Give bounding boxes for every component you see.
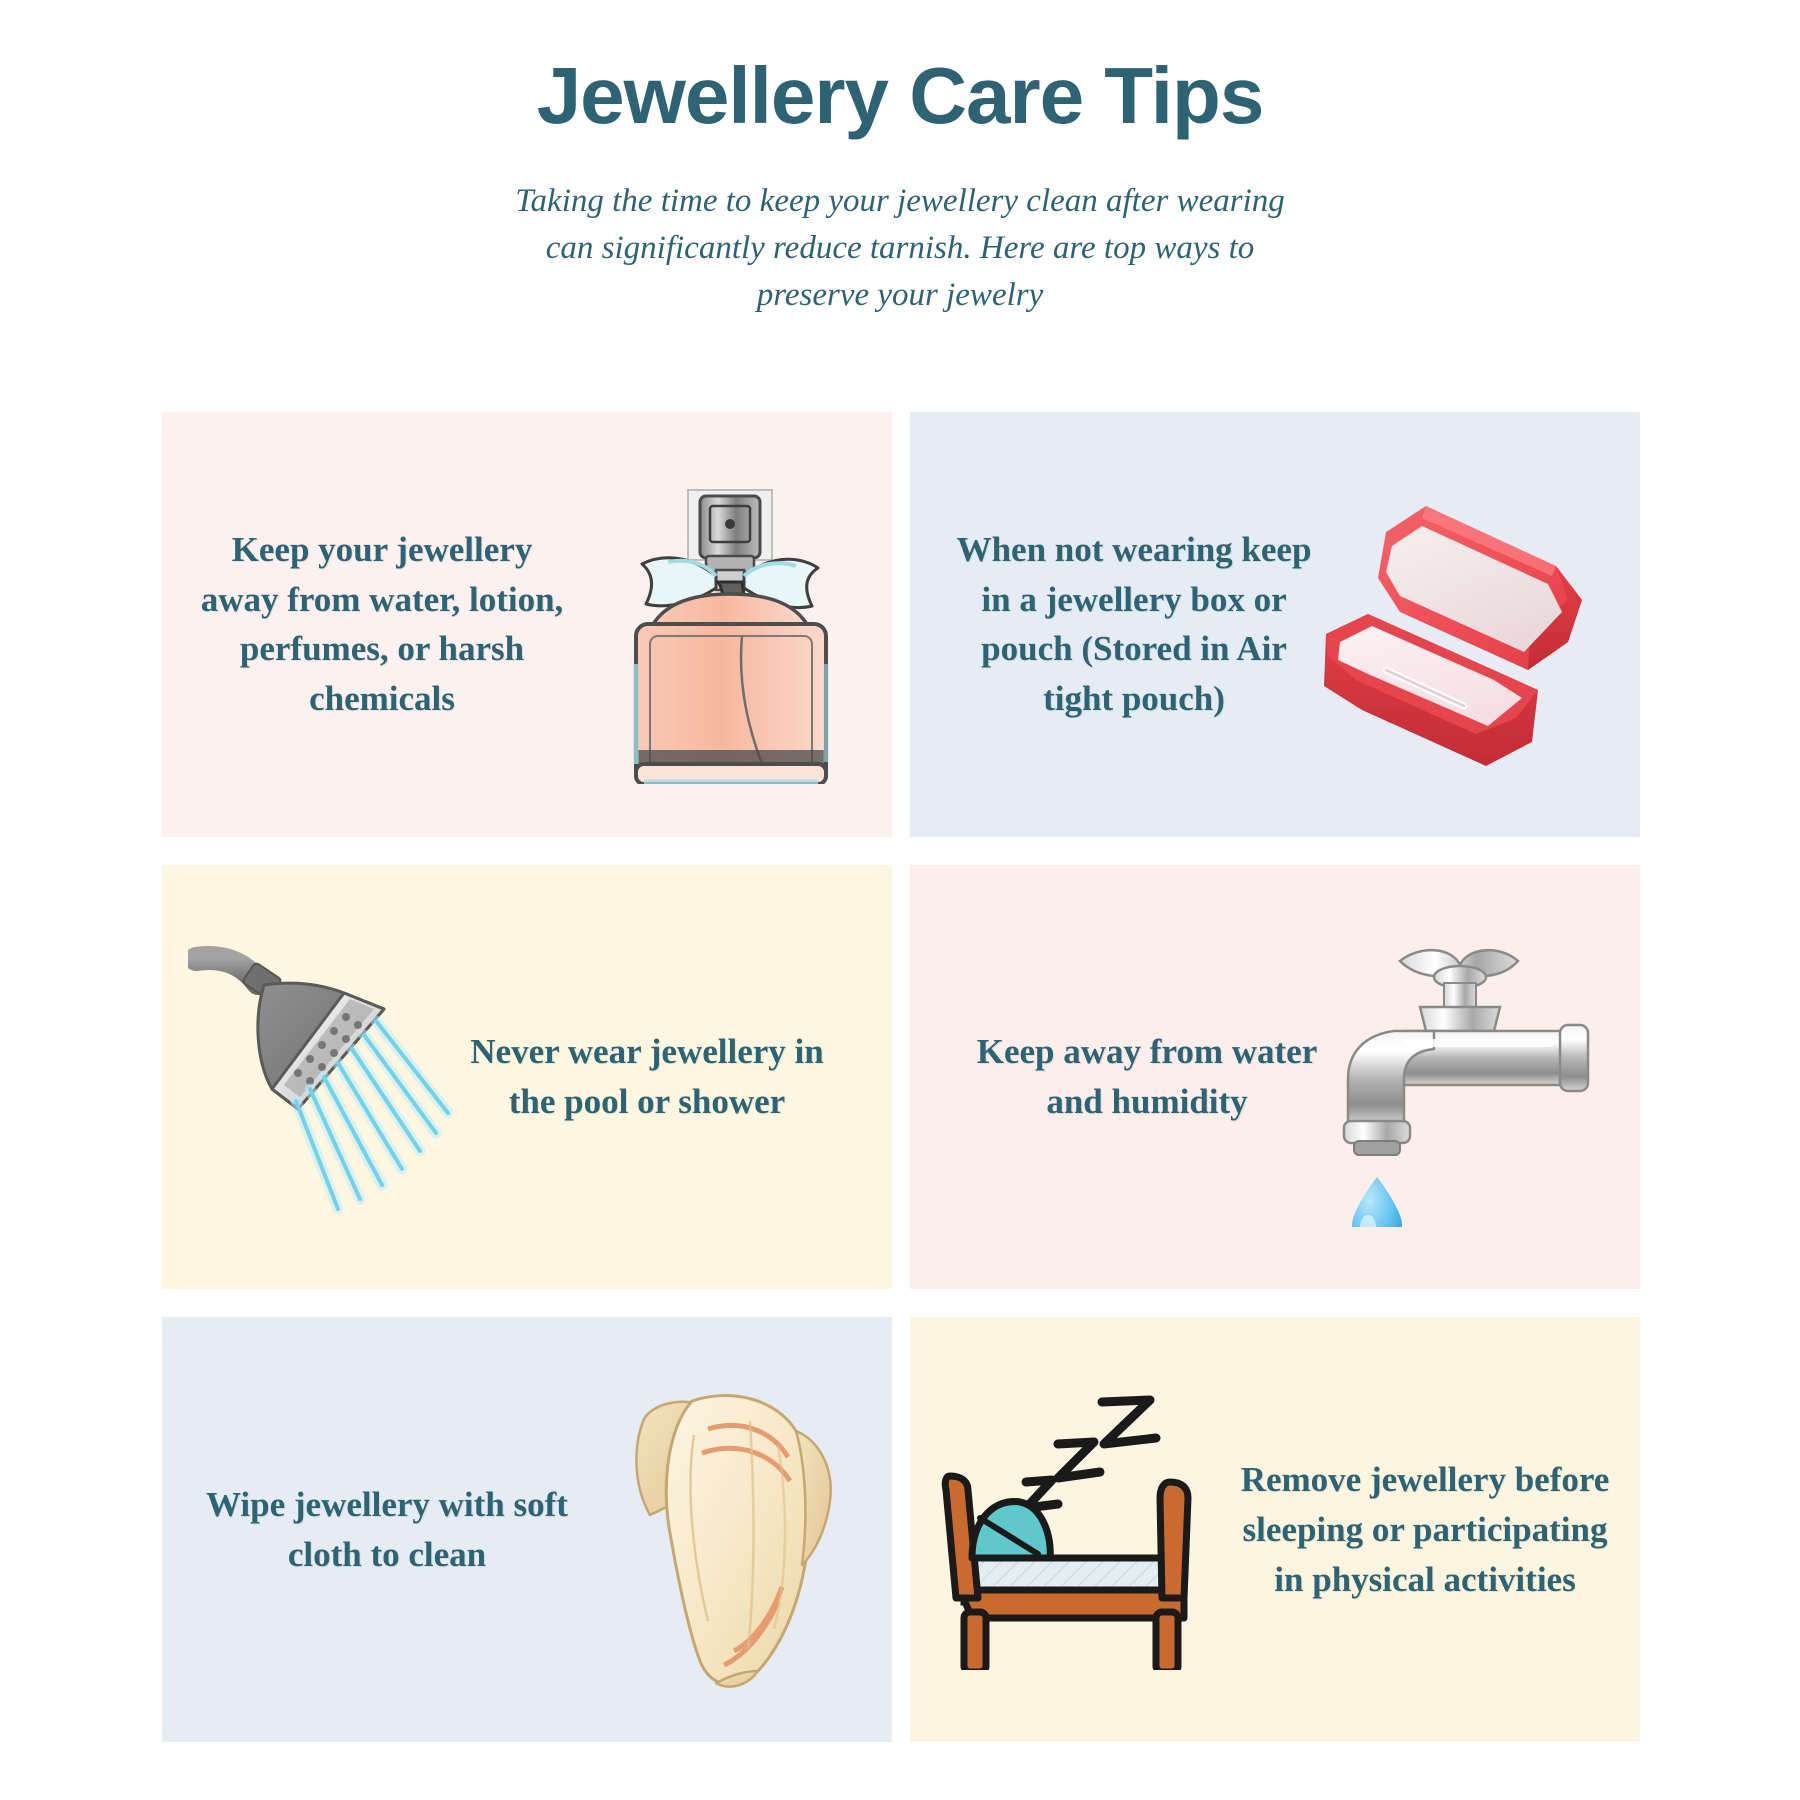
tip-card-sleep[interactable]: Remove jewellery before sleeping or part… bbox=[910, 1317, 1640, 1742]
tip-card-shower[interactable]: Never wear jewellery in the pool or show… bbox=[162, 865, 892, 1290]
header: Jewellery Care Tips Taking the time to k… bbox=[0, 0, 1800, 319]
faucet-icon bbox=[1324, 927, 1614, 1227]
tip-card-chemicals[interactable]: Keep your jewellery away from water, lot… bbox=[162, 412, 892, 837]
infographic-page: Jewellery Care Tips Taking the time to k… bbox=[0, 0, 1800, 1800]
perfume-bottle-icon bbox=[566, 464, 866, 784]
tip-text: When not wearing keep in a jewellery box… bbox=[934, 525, 1316, 724]
tip-text: Remove jewellery before sleeping or part… bbox=[1224, 1455, 1616, 1604]
shower-head-icon bbox=[188, 937, 458, 1217]
ring-box-icon bbox=[1316, 474, 1616, 774]
tip-text: Wipe jewellery with soft cloth to clean bbox=[192, 1480, 582, 1579]
tip-card-humidity[interactable]: Keep away from water and humidity bbox=[910, 865, 1640, 1290]
polishing-cloth-icon bbox=[582, 1365, 862, 1695]
tip-text: Keep away from water and humidity bbox=[936, 1027, 1324, 1126]
tip-card-wipe[interactable]: Wipe jewellery with soft cloth to clean bbox=[162, 1317, 892, 1742]
tip-text: Never wear jewellery in the pool or show… bbox=[458, 1027, 866, 1126]
page-subtitle: Taking the time to keep your jewellery c… bbox=[500, 178, 1300, 319]
tip-card-storage[interactable]: When not wearing keep in a jewellery box… bbox=[910, 412, 1640, 837]
tips-grid: Keep your jewellery away from water, lot… bbox=[162, 412, 1640, 1742]
tip-text: Keep your jewellery away from water, lot… bbox=[188, 525, 566, 724]
page-title: Jewellery Care Tips bbox=[0, 30, 1800, 140]
sleeping-bed-icon bbox=[934, 1390, 1224, 1670]
